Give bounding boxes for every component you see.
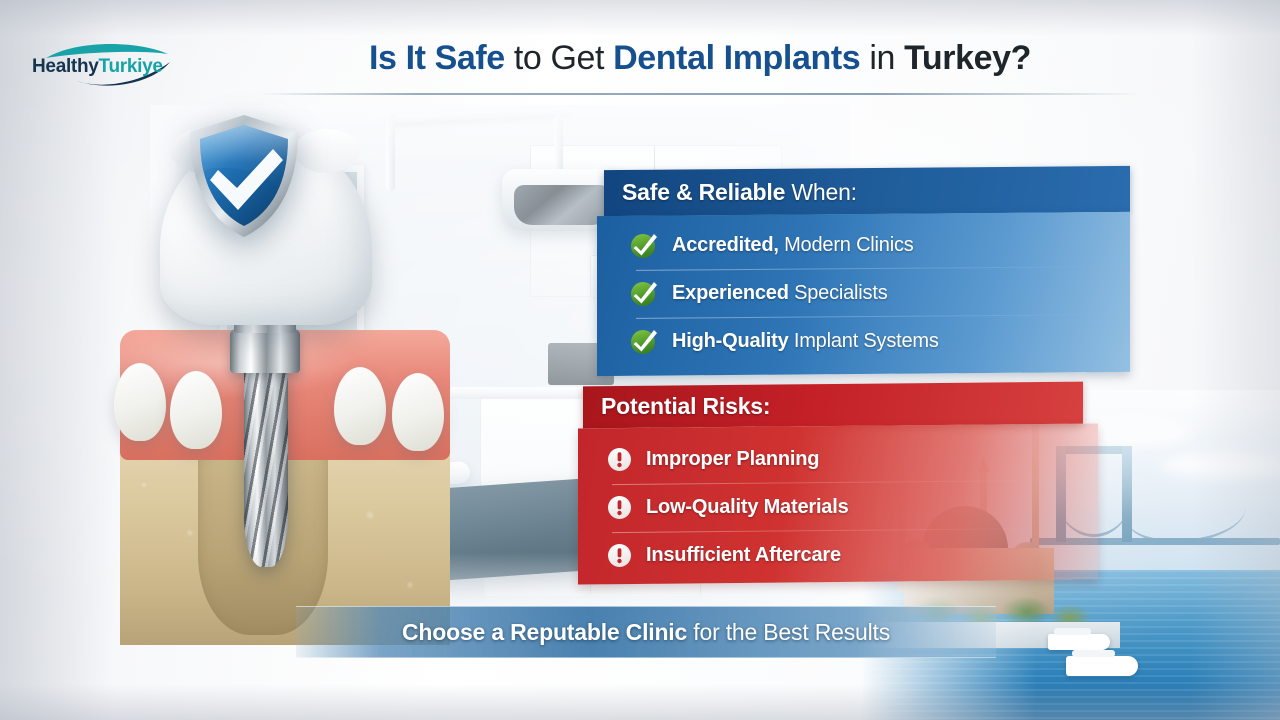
risk-item-label: Improper Planning [646, 448, 819, 471]
title-part-1: Is It Safe [369, 39, 505, 77]
risk-item-bold: Low-Quality Materials [646, 496, 849, 518]
risk-list-item: Insufficient Aftercare [607, 543, 841, 568]
safe-item-rest: Specialists [794, 282, 887, 304]
safe-item-label: Experienced Specialists [672, 282, 888, 305]
risk-panel-heading: Potential Risks: [601, 393, 770, 420]
infographic-canvas: HealthyTurkiye Is It Safe to Get Dental … [0, 0, 1280, 720]
implant-screw [244, 367, 288, 567]
safe-heading-bold: Safe & Reliable [622, 179, 785, 205]
title-part-4: in [869, 39, 895, 77]
banner-rest: for the Best Results [693, 619, 890, 645]
safe-list-item: High-Quality Implant Systems [630, 327, 939, 355]
call-to-action-banner: Choose a Reputable Clinic for the Best R… [296, 606, 996, 658]
safe-item-bold: High-Quality [672, 330, 789, 352]
adjacent-tooth [334, 367, 386, 445]
adjacent-tooth [170, 371, 222, 449]
adjacent-tooth [392, 373, 444, 451]
safe-item-rest: Implant Systems [794, 330, 939, 352]
safe-list-item: Accredited, Modern Clinics [630, 231, 914, 259]
risk-item-label: Insufficient Aftercare [646, 544, 841, 567]
page-title: Is It Safe to Get Dental Implants in Tur… [255, 40, 1145, 77]
brand-logo[interactable]: HealthyTurkiye [28, 36, 188, 92]
exclamation-circle-icon [607, 447, 632, 472]
banner-bold: Choose a Reputable Clinic [402, 619, 687, 645]
safe-list-item: Experienced Specialists [630, 279, 888, 307]
safe-item-bold: Experienced [672, 282, 789, 304]
title-part-2: to Get [514, 39, 604, 77]
risk-item-label: Low-Quality Materials [646, 496, 849, 519]
check-circle-icon [630, 279, 658, 307]
risk-item-bold: Insufficient Aftercare [646, 544, 841, 566]
logo-secondary-text: Turkiye [99, 56, 163, 77]
banner-text: Choose a Reputable Clinic for the Best R… [402, 619, 890, 646]
safe-item-label: Accredited, Modern Clinics [672, 234, 914, 257]
adjacent-tooth [114, 363, 166, 441]
safe-heading-rest: When: [791, 179, 856, 205]
safe-item-bold: Accredited, [672, 234, 779, 256]
title-part-3: Dental Implants [613, 39, 860, 77]
check-circle-icon [630, 231, 658, 259]
risk-list-item: Improper Planning [607, 447, 819, 472]
title-divider [258, 93, 1142, 95]
exclamation-circle-icon [607, 495, 632, 520]
shield-check-icon [185, 112, 303, 240]
logo-primary-text: Healthy [32, 56, 99, 77]
implant-collar [230, 329, 300, 373]
safe-item-label: High-Quality Implant Systems [672, 330, 939, 353]
safe-panel-heading: Safe & Reliable When: [622, 179, 857, 206]
exclamation-circle-icon [607, 543, 632, 568]
risk-item-bold: Improper Planning [646, 448, 819, 470]
title-part-5: Turkey? [904, 39, 1031, 77]
logo-wordmark: HealthyTurkiye [32, 56, 163, 78]
screw-threads [244, 367, 288, 567]
safe-item-rest: Modern Clinics [784, 234, 913, 256]
check-circle-icon [630, 327, 658, 355]
risk-list-item: Low-Quality Materials [607, 495, 849, 520]
risk-heading-bold: Potential Risks: [601, 393, 770, 419]
crown-cusp [294, 129, 360, 173]
